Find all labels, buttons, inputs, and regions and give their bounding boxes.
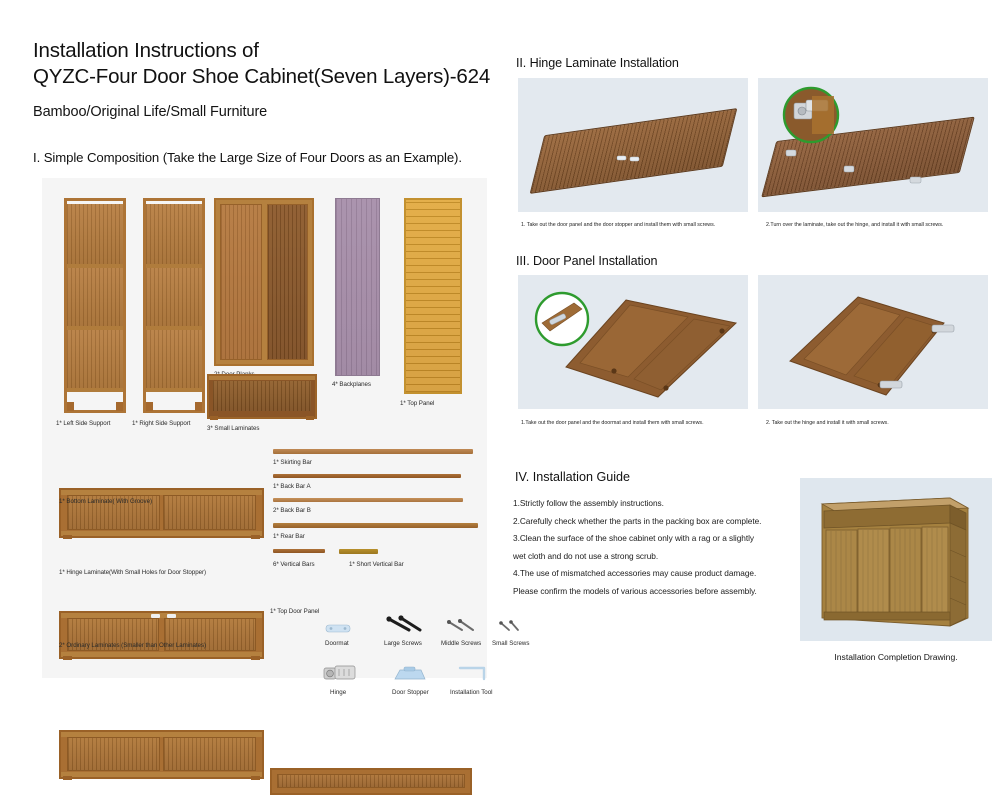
laminate-hardware-marks [518, 78, 748, 212]
part-label-back-bar-a: 1* Back Bar A [273, 483, 311, 490]
section-3-caption-right: 2. Take out the hinge and install it wit… [766, 420, 889, 426]
part-door-planks [214, 198, 314, 366]
part-label-left-side-support: 1* Left Side Support [56, 420, 110, 427]
part-back-bar-b [273, 498, 463, 502]
part-label-hinge-laminate: 1* Hinge Laminate(With Small Holes for D… [59, 569, 206, 576]
completion-photo [800, 478, 992, 641]
hinge-icon [322, 662, 358, 684]
hardware-label-door-stopper: Door Stopper [392, 689, 429, 696]
part-label-right-side-support: 1* Right Side Support [132, 420, 190, 427]
hardware-label-installation-tool: Installation Tool [450, 689, 493, 696]
section-2-photo-left [518, 78, 748, 212]
part-back-bar-a [273, 474, 461, 478]
door-panel-figure-left [518, 275, 748, 409]
door-stopper-icon [392, 666, 428, 684]
part-hinge-laminate [59, 611, 264, 659]
part-vertical-bars [273, 549, 325, 553]
hardware-label-hinge: Hinge [330, 689, 346, 696]
section-3-photo-left [518, 275, 748, 409]
section-3-heading: III. Door Panel Installation [516, 254, 657, 268]
doormat-icon [325, 622, 351, 635]
part-right-side-support [143, 198, 205, 413]
large-screws-icon [385, 615, 425, 639]
part-ordinary-laminates [59, 730, 264, 779]
title-line-2: QYZC-Four Door Shoe Cabinet(Seven Layers… [33, 64, 493, 90]
hardware-label-middle-screws: Middle Screws [441, 640, 481, 647]
part-bottom-laminate [59, 488, 264, 538]
part-label-short-vertical-bar: 1* Short Vertical Bar [349, 561, 404, 568]
section-3-caption-left: 1.Take out the door panel and the doorma… [521, 420, 704, 426]
part-label-vertical-bars: 6* Vertical Bars [273, 561, 315, 568]
section-2-heading: II. Hinge Laminate Installation [516, 56, 679, 70]
parts-composition-panel: 1* Left Side Support 1* Right Side Suppo… [42, 178, 487, 678]
part-label-small-laminates: 3* Small Laminates [207, 425, 259, 432]
shoe-cabinet-drawing [800, 478, 992, 641]
hardware-label-large-screws: Large Screws [384, 640, 422, 647]
part-label-top-panel: 1* Top Panel [400, 400, 434, 407]
part-backplanes [335, 198, 380, 376]
hinge-callout-group [758, 78, 988, 212]
section-3-photo-right [758, 275, 988, 409]
middle-screws-icon [446, 619, 476, 637]
part-label-backplanes: 4* Backplanes [332, 381, 371, 388]
document-subtitle: Bamboo/Original Life/Small Furniture [33, 104, 493, 120]
part-label-skirting-bar: 1* Skirting Bar [273, 459, 312, 466]
part-left-side-support [64, 198, 126, 413]
hinge-marks [786, 150, 921, 183]
part-skirting-bar [273, 449, 473, 454]
part-rear-bar [273, 523, 478, 528]
part-label-back-bar-b: 2* Back Bar B [273, 507, 311, 514]
section-2-photo-right [758, 78, 988, 212]
part-label-bottom-laminate: 1* Bottom Laminate( With Groove) [59, 498, 152, 505]
part-short-vertical-bar [339, 549, 378, 554]
section-1-heading: I. Simple Composition (Take the Large Si… [33, 150, 462, 165]
title-line-1: Installation Instructions of [33, 38, 493, 64]
completion-caption: Installation Completion Drawing. [800, 652, 992, 662]
instruction-sheet: Installation Instructions of QYZC-Four D… [0, 0, 1000, 707]
installation-tool-icon [457, 665, 491, 683]
part-top-panel [404, 198, 462, 394]
part-label-ordinary-laminates: 2* Ordinary Laminates (Smaller than Othe… [59, 642, 206, 649]
document-title-block: Installation Instructions of QYZC-Four D… [33, 38, 493, 120]
part-label-rear-bar: 1* Rear Bar [273, 533, 305, 540]
section-2-caption-left: 1. Take out the door panel and the door … [521, 222, 715, 228]
hardware-label-doormat: Doormat [325, 640, 349, 647]
part-small-laminates [207, 374, 317, 419]
part-label-top-door-panel: 1* Top Door Panel [270, 608, 319, 615]
cabinet-doors [826, 527, 948, 613]
section-2-caption-right: 2.Turn over the laminate, take out the h… [766, 222, 943, 228]
door-panel-figure-right [758, 275, 988, 409]
part-top-door-panel [270, 768, 472, 795]
